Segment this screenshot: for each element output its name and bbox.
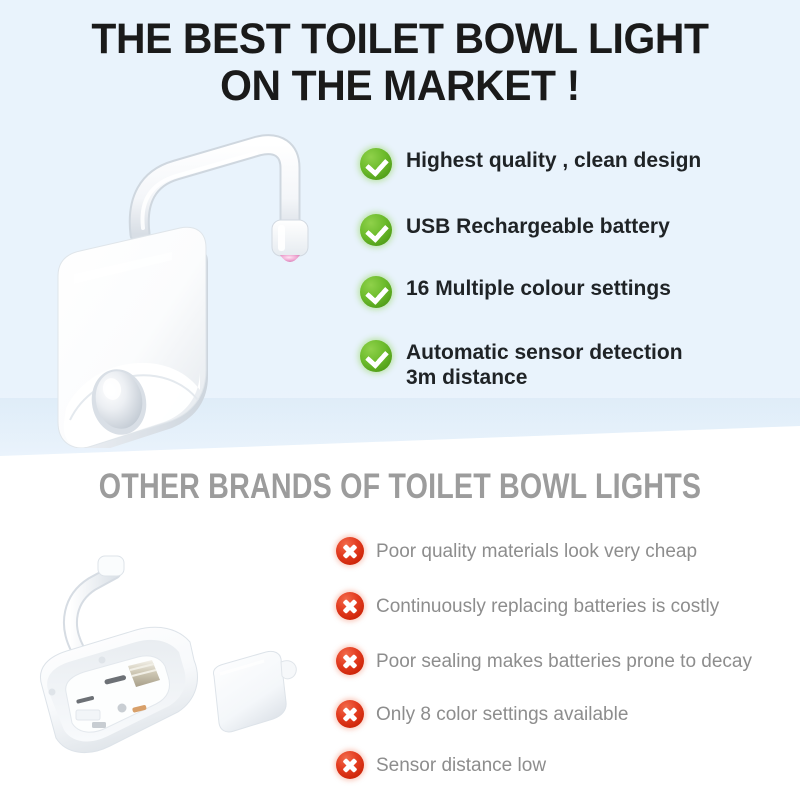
pros-item-label: Highest quality , clean design [406,148,701,173]
check-circle-icon [360,148,392,180]
page-title: THE BEST TOILET BOWL LIGHT ON THE MARKET… [20,16,780,110]
x-circle-icon [336,700,364,728]
label-patch [76,710,100,720]
cons-item-2: Continuously replacing batteries is cost… [336,592,719,620]
x-circle-icon [336,647,364,675]
cons-item-label: Poor sealing makes batteries prone to de… [376,650,752,673]
hero-product-image [40,108,350,448]
cons-item-1: Poor quality materials look very cheap [336,537,697,565]
check-circle-icon [360,214,392,246]
screw-left [49,689,56,696]
check-circle-icon [360,340,392,372]
pros-item-label: 16 Multiple colour settings [406,276,671,301]
pros-item-3: 16 Multiple colour settings [360,276,671,308]
competitor-light-illustration [18,540,328,795]
competitor-product-image [18,540,328,795]
led-lens [280,255,300,262]
cons-item-label: Only 8 color settings available [376,703,628,726]
comparison-heading: OTHER BRANDS OF TOILET BOWL LIGHTS [72,468,728,506]
x-circle-icon [336,592,364,620]
check-circle-icon [360,276,392,308]
led-collar [272,220,308,256]
x-circle-icon [336,537,364,565]
screw-top [99,657,106,664]
battery-cover [213,651,286,732]
cons-item-label: Poor quality materials look very cheap [376,540,697,563]
toilet-light-illustration [40,108,350,448]
pros-item-label: Automatic sensor detection 3m distance [406,340,683,390]
screw-center [118,704,127,713]
cons-item-label: Continuously replacing batteries is cost… [376,595,719,618]
pros-item-label: USB Rechargeable battery [406,214,670,239]
cons-item-3: Poor sealing makes batteries prone to de… [336,647,752,675]
cons-item-label: Sensor distance low [376,754,546,777]
led-collar-highlight [278,225,285,251]
pros-item-4: Automatic sensor detection 3m distance [360,340,683,390]
pros-item-1: Highest quality , clean design [360,148,701,180]
infographic-page: THE BEST TOILET BOWL LIGHT ON THE MARKET… [0,0,800,800]
x-circle-icon [336,751,364,779]
cons-item-5: Sensor distance low [336,751,546,779]
battery-cover-tab [281,661,296,679]
cons-item-4: Only 8 color settings available [336,700,628,728]
marking-text [92,722,106,728]
gooseneck-arm [139,145,290,234]
pros-item-2: USB Rechargeable battery [360,214,670,246]
competitor-led-head [98,556,124,576]
